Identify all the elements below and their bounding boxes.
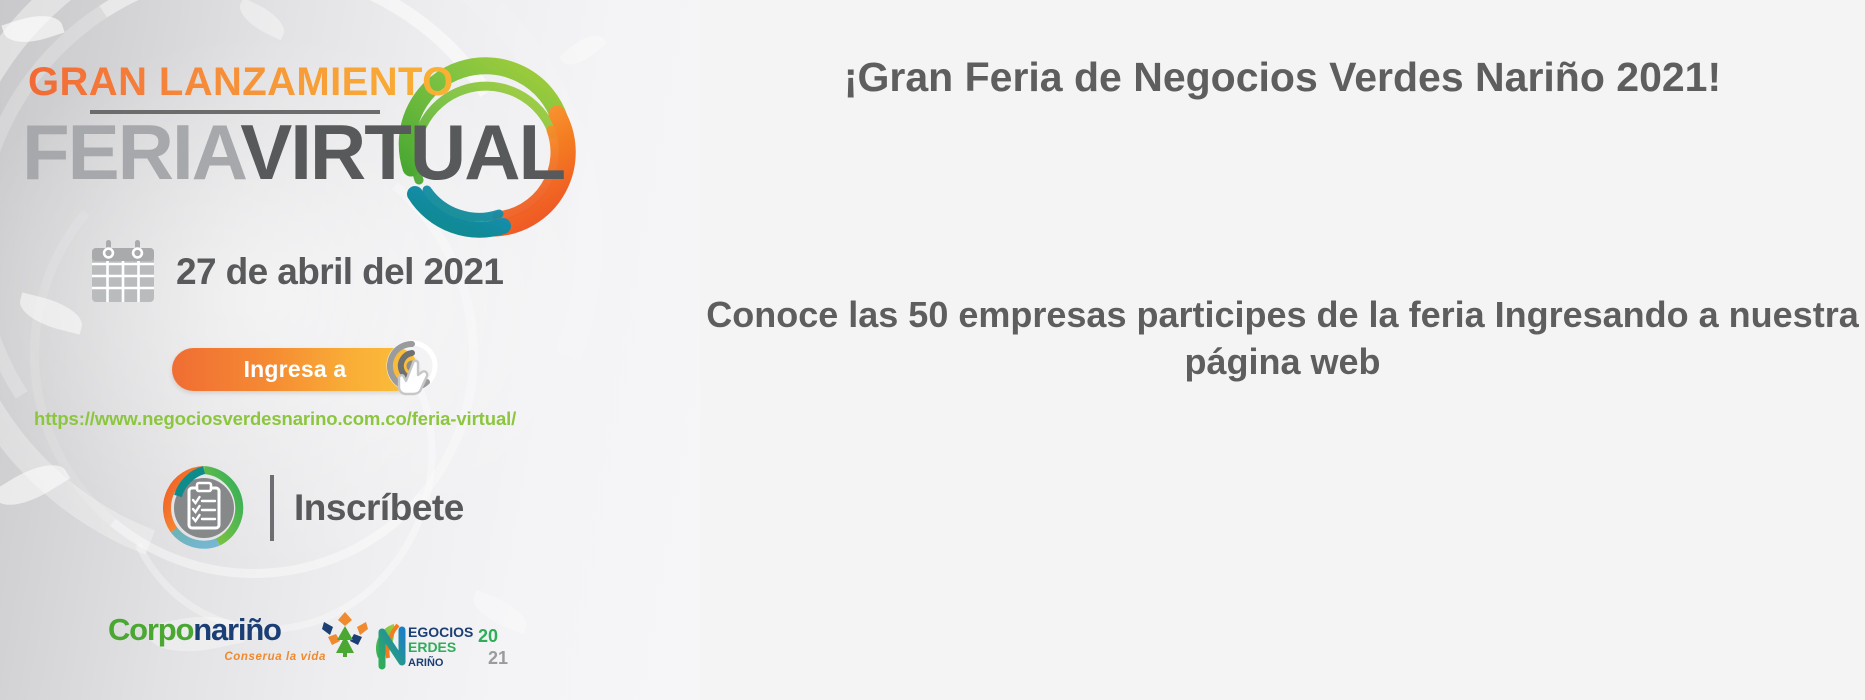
svg-text:ERDES: ERDES [408,639,456,655]
leaf-decoration [234,0,290,40]
corponarino-name: Corponariño [108,614,326,645]
corponarino-part1: Corpo [108,612,193,647]
click-cursor-icon [382,336,454,408]
panel-heading: ¡Gran Feria de Negocios Verdes Nariño 20… [700,52,1865,103]
svg-text:EGOCIOS: EGOCIOS [408,624,473,640]
event-date: 27 de abril del 2021 [176,251,503,293]
poster-image: GRAN LANZAMIENTO FERIAVIRTUAL [0,0,700,700]
corponarino-mark-icon [322,610,368,658]
negocios-verdes-narino-logo: EGOCIOS ERDES ARIÑO 20 21 [368,618,518,678]
svg-text:21: 21 [488,648,508,668]
wordmark-virtual: VIRTUAL [240,108,564,196]
corponarino-part2: nariño [193,612,281,647]
poster-kicker: GRAN LANZAMIENTO [28,62,454,102]
panel-body-text: Conoce las 50 empresas participes de la … [700,292,1865,386]
cta-container: Ingresa a [172,348,418,391]
corponarino-tagline: Conserua la vida [108,651,326,663]
corponarino-logo: Corponariño Conserua la vida [108,614,326,663]
wordmark-feria: FERIA [22,108,240,196]
register-label[interactable]: Inscríbete [294,487,464,529]
leaf-decoration [0,453,70,518]
poster-wordmark: FERIAVIRTUAL [22,113,564,191]
leaf-decoration [1,8,64,51]
calendar-icon [88,238,158,306]
event-date-row: 27 de abril del 2021 [88,238,503,306]
register-row: Inscríbete [158,462,464,554]
sponsor-logos: Corponariño Conserua la vida [108,614,518,678]
svg-text:20: 20 [478,626,498,646]
text-panel: ¡Gran Feria de Negocios Verdes Nariño 20… [700,0,1865,700]
vertical-divider [270,475,274,541]
event-url[interactable]: https://www.negociosverdesnarino.com.co/… [34,408,516,430]
leaf-decoration [16,292,87,334]
promo-banner: GRAN LANZAMIENTO FERIAVIRTUAL [0,0,1865,700]
svg-text:ARIÑO: ARIÑO [408,656,444,669]
clipboard-badge-icon [158,462,250,554]
